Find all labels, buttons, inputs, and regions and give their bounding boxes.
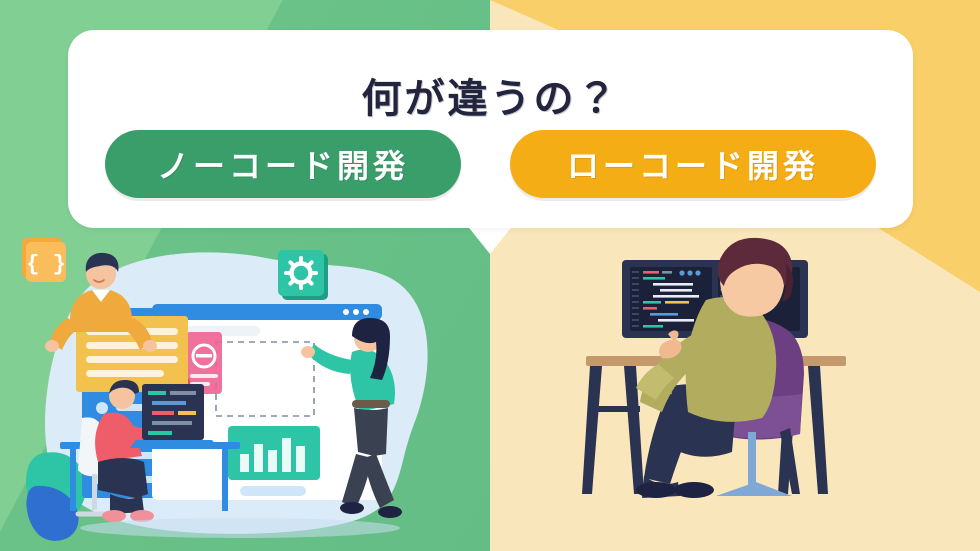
canvas-footer-bar xyxy=(240,486,306,496)
floor-shadow xyxy=(80,518,400,538)
speech-bubble: 何が違うの？ ノーコード開発 ローコード開発 xyxy=(68,30,913,228)
desk-leg-right-front xyxy=(808,366,828,494)
comparison-pill-row: ノーコード開発 ローコード開発 xyxy=(68,130,913,204)
poster-canvas: { } xyxy=(0,0,980,551)
no-code-illustration: { } xyxy=(0,228,490,551)
desk-crossbar xyxy=(588,406,640,412)
shoe-back xyxy=(674,482,714,498)
svg-text:{ }: { } xyxy=(26,252,66,277)
chair-post xyxy=(748,432,756,488)
desk-leg-right xyxy=(222,449,228,511)
low-code-illustration xyxy=(490,228,980,551)
titlebar-dots xyxy=(343,309,369,315)
desk-leg-left xyxy=(70,449,76,511)
pill-low-code-development[interactable]: ローコード開発 xyxy=(510,130,876,198)
page-title: 何が違うの？ xyxy=(68,66,913,124)
speech-bubble-tail xyxy=(466,224,514,254)
gear-card xyxy=(278,250,328,300)
laptop-base xyxy=(130,440,218,448)
component-card-line-1 xyxy=(190,374,218,378)
shoe-front xyxy=(636,482,676,498)
desk-leg-left-front xyxy=(582,366,602,494)
pill-no-code-development[interactable]: ノーコード開発 xyxy=(105,130,461,198)
chair-post xyxy=(92,474,97,510)
braces-card: { } xyxy=(22,238,66,282)
component-card-icon-bar xyxy=(196,354,212,358)
